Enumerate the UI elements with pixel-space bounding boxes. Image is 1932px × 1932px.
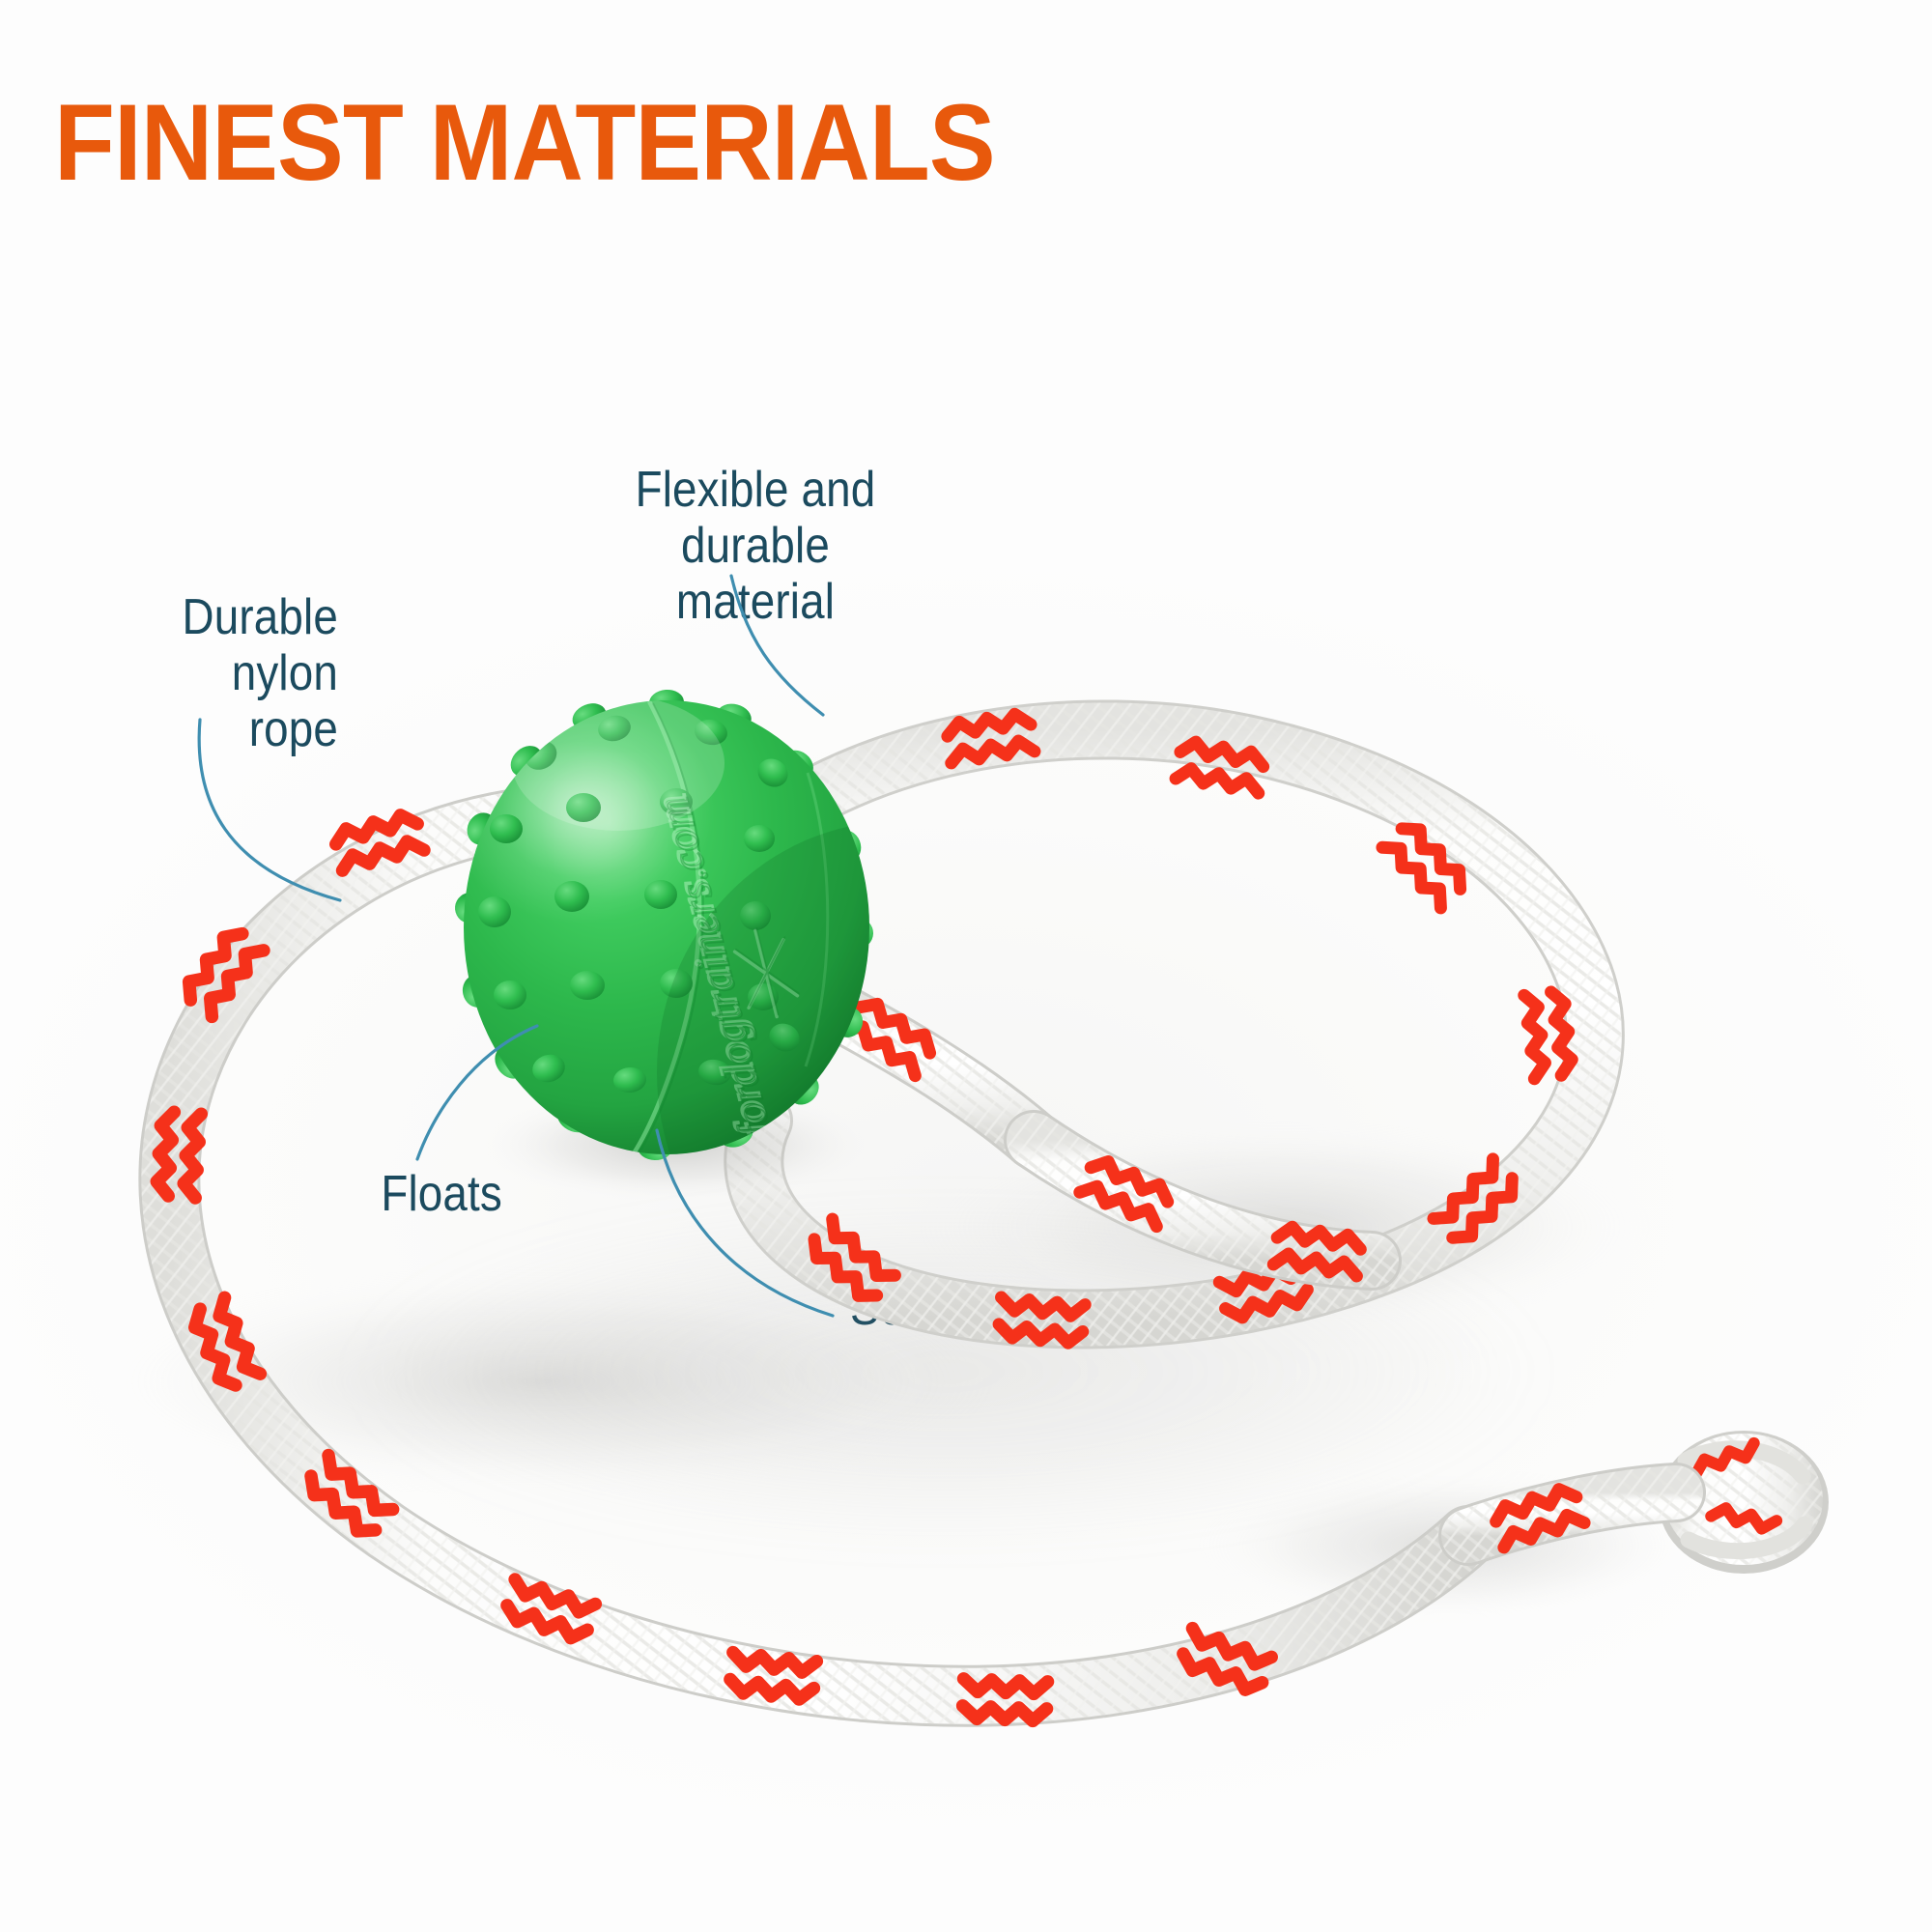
leader-line-rope: [199, 720, 340, 900]
infographic-canvas: FINEST MATERIALS: [0, 0, 1932, 1932]
callout-leader-lines: [0, 0, 1932, 1932]
leader-line-floats: [417, 1026, 537, 1159]
leader-line-material: [731, 576, 823, 715]
leader-line-scented: [657, 1130, 833, 1316]
